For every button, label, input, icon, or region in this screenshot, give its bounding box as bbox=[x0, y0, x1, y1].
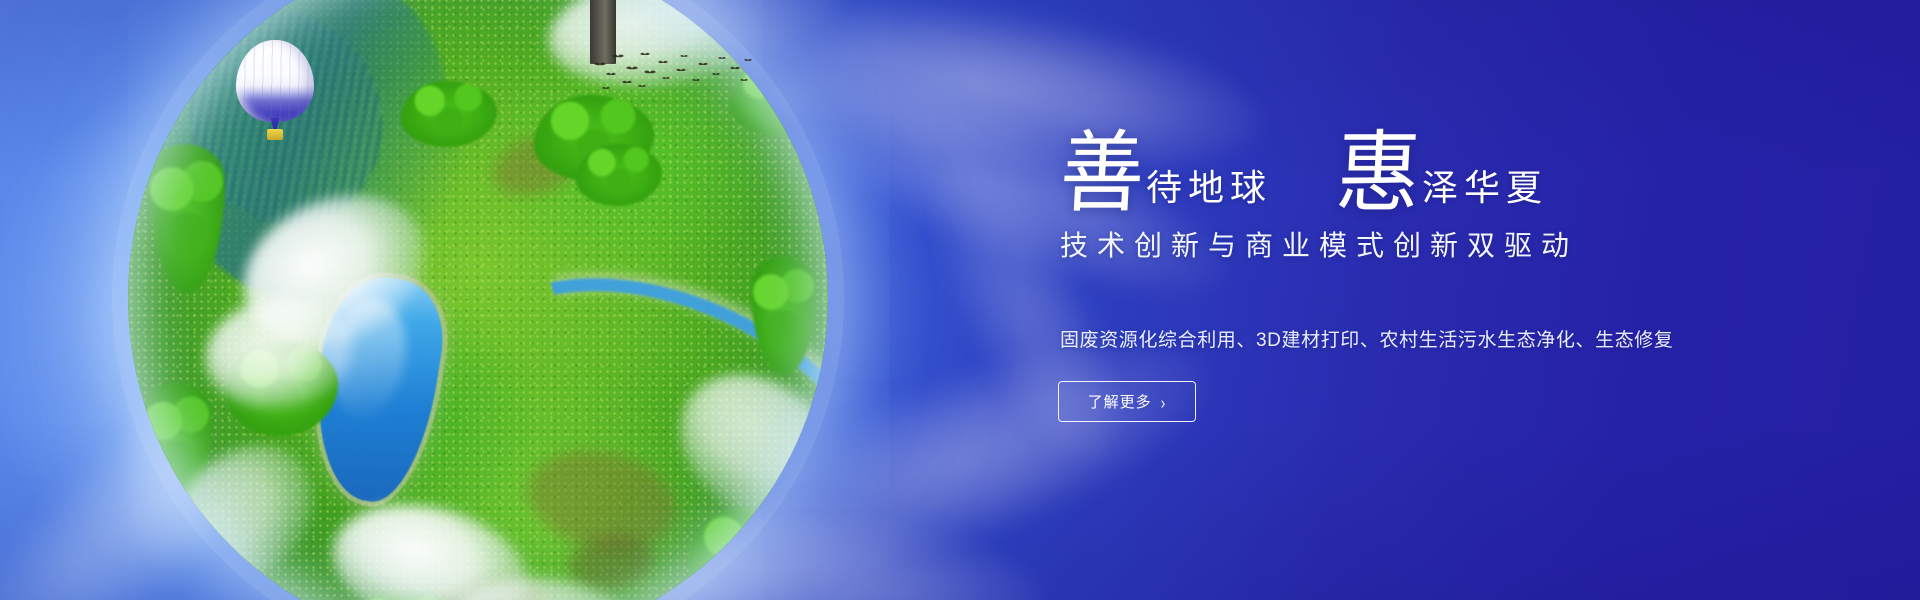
hero-description: 固废资源化综合利用、3D建材打印、农村生活污水生态净化、生态修复 bbox=[1060, 330, 1674, 353]
headline-big-char-2: 惠 bbox=[1334, 133, 1422, 215]
hero-content: 善 待地球 惠 泽华夏 技术创新与商业模式创新双驱动 固废资源化综合利用、3D建… bbox=[1058, 0, 1818, 600]
balloon-basket bbox=[267, 129, 283, 140]
headline: 善 待地球 惠 泽华夏 bbox=[1058, 138, 1548, 215]
headline-group-1: 善 待地球 bbox=[1058, 138, 1272, 215]
learn-more-button[interactable]: 了解更多 › bbox=[1058, 381, 1196, 422]
hero-subtitle: 技术创新与商业模式创新双驱动 bbox=[1060, 232, 1578, 260]
bird-flock-icon bbox=[592, 48, 752, 96]
hot-air-balloon-icon bbox=[236, 40, 322, 146]
headline-big-char-1: 善 bbox=[1058, 133, 1146, 215]
learn-more-label: 了解更多 bbox=[1088, 391, 1152, 412]
headline-small-text-1: 待地球 bbox=[1146, 170, 1272, 215]
hero-banner: 善 待地球 惠 泽华夏 技术创新与商业模式创新双驱动 固废资源化综合利用、3D建… bbox=[0, 0, 1920, 600]
chevron-right-icon: › bbox=[1161, 393, 1167, 411]
headline-small-text-2: 泽华夏 bbox=[1422, 170, 1548, 215]
headline-group-2: 惠 泽华夏 bbox=[1334, 138, 1548, 215]
balloon-ribs bbox=[236, 40, 314, 122]
